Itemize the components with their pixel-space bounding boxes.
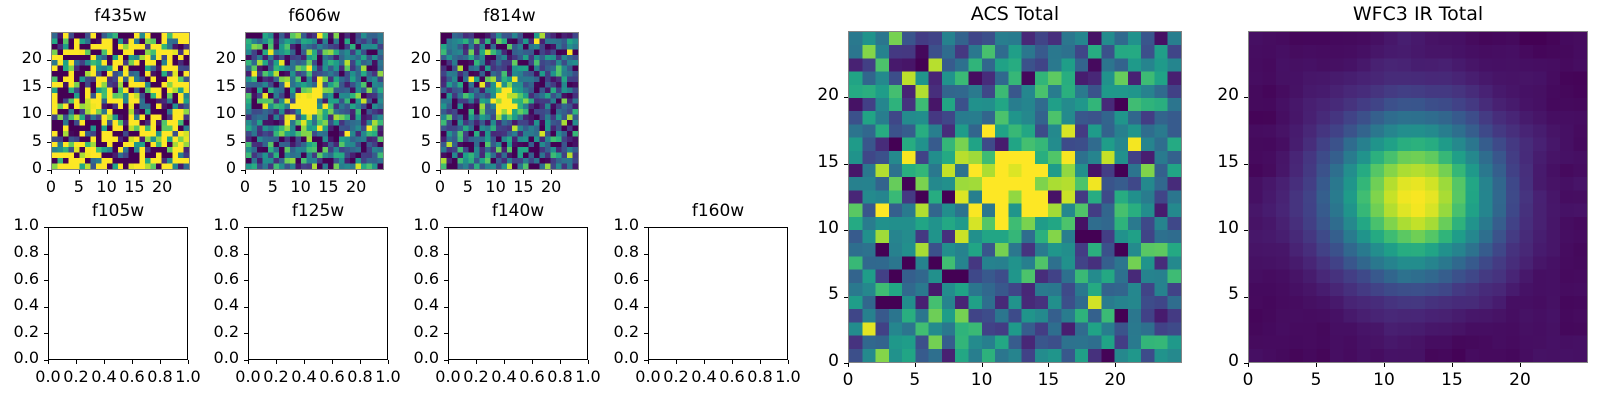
figure-canvas: f435w0510152005101520f606w05101520051015… <box>0 0 1600 400</box>
y-tick-mark <box>244 227 248 228</box>
y-tick-mark <box>436 115 440 116</box>
y-tick-mark <box>1244 97 1248 98</box>
y-tick-label: 20 <box>769 85 839 105</box>
y-tick-label: 0 <box>0 158 42 177</box>
x-tick-label: 5 <box>1286 370 1346 390</box>
plot-area-f140w <box>448 227 588 360</box>
y-tick-label: 20 <box>361 48 431 67</box>
panel-title-f125w: f125w <box>248 201 388 221</box>
x-tick-label: 10 <box>1354 370 1414 390</box>
x-tick-mark <box>448 360 449 364</box>
y-tick-label: 0.6 <box>169 269 239 288</box>
y-tick-label: 1.0 <box>369 215 439 234</box>
y-tick-label: 0.4 <box>369 295 439 314</box>
x-tick-mark <box>704 360 705 364</box>
y-tick-mark <box>644 333 648 334</box>
y-tick-mark <box>644 280 648 281</box>
x-tick-mark <box>104 360 105 364</box>
x-tick-mark <box>76 360 77 364</box>
x-tick-mark <box>648 360 649 364</box>
panel-title-acs-total: ACS Total <box>848 3 1182 25</box>
plot-area-acs-total <box>848 31 1182 363</box>
x-tick-mark <box>1248 363 1249 367</box>
y-tick-label: 0.0 <box>369 348 439 367</box>
x-tick-mark <box>1520 363 1521 367</box>
y-tick-mark <box>244 333 248 334</box>
y-tick-label: 0.6 <box>369 269 439 288</box>
y-tick-mark <box>244 254 248 255</box>
y-tick-label: 5 <box>361 131 431 150</box>
x-tick-mark <box>273 170 274 174</box>
x-tick-label: 10 <box>952 370 1012 390</box>
x-tick-mark <box>468 170 469 174</box>
x-tick-mark <box>301 170 302 174</box>
y-tick-label: 0.0 <box>0 348 39 367</box>
y-tick-label: 10 <box>769 218 839 238</box>
y-tick-label: 15 <box>0 76 42 95</box>
y-tick-mark <box>436 87 440 88</box>
y-tick-mark <box>644 227 648 228</box>
y-tick-mark <box>241 170 245 171</box>
x-tick-label: 1.0 <box>558 367 618 386</box>
y-tick-label: 0.8 <box>369 242 439 261</box>
panel-title-f140w: f140w <box>448 201 588 221</box>
y-tick-label: 0.2 <box>569 322 639 341</box>
y-tick-mark <box>1244 363 1248 364</box>
plot-area-f814w <box>440 32 579 170</box>
y-tick-mark <box>444 280 448 281</box>
y-tick-label: 20 <box>166 48 236 67</box>
x-tick-mark <box>248 360 249 364</box>
panel-title-f814w: f814w <box>440 6 579 26</box>
y-tick-label: 10 <box>166 103 236 122</box>
x-tick-mark <box>982 363 983 367</box>
y-tick-mark <box>844 97 848 98</box>
y-tick-mark <box>844 363 848 364</box>
y-tick-mark <box>436 60 440 61</box>
y-tick-mark <box>47 142 51 143</box>
panel-title-f435w: f435w <box>51 6 190 26</box>
y-tick-label: 1.0 <box>569 215 639 234</box>
x-tick-mark <box>476 360 477 364</box>
panel-title-f105w: f105w <box>48 201 188 221</box>
x-tick-label: 1.0 <box>358 367 418 386</box>
x-tick-mark <box>504 360 505 364</box>
y-tick-label: 5 <box>769 284 839 304</box>
heatmap-wfc3-ir-total <box>1249 32 1587 362</box>
x-tick-mark <box>356 170 357 174</box>
plot-area-f160w <box>648 227 788 360</box>
y-tick-label: 0.6 <box>569 269 639 288</box>
x-tick-mark <box>560 360 561 364</box>
y-tick-label: 0 <box>769 351 839 371</box>
y-tick-label: 0.0 <box>169 348 239 367</box>
x-tick-label: 15 <box>1018 370 1078 390</box>
plot-area-f105w <box>48 227 188 360</box>
panel-title-f160w: f160w <box>648 201 788 221</box>
x-tick-mark <box>328 170 329 174</box>
y-tick-label: 1.0 <box>0 215 39 234</box>
x-tick-mark <box>1384 363 1385 367</box>
y-tick-mark <box>844 230 848 231</box>
x-tick-mark <box>132 360 133 364</box>
y-tick-mark <box>444 333 448 334</box>
y-tick-label: 0 <box>166 158 236 177</box>
y-tick-label: 0.4 <box>0 295 39 314</box>
y-tick-mark <box>47 115 51 116</box>
y-tick-label: 0.2 <box>0 322 39 341</box>
x-tick-mark <box>107 170 108 174</box>
x-tick-mark <box>760 360 761 364</box>
y-tick-label: 15 <box>361 76 431 95</box>
x-tick-label: 1.0 <box>158 367 218 386</box>
y-tick-mark <box>436 142 440 143</box>
y-tick-mark <box>244 280 248 281</box>
y-tick-label: 0.4 <box>569 295 639 314</box>
y-tick-mark <box>47 87 51 88</box>
x-tick-mark <box>48 360 49 364</box>
x-tick-label: 0 <box>818 370 878 390</box>
x-tick-mark <box>551 170 552 174</box>
y-tick-label: 1.0 <box>169 215 239 234</box>
x-tick-mark <box>160 360 161 364</box>
x-tick-mark <box>1115 363 1116 367</box>
y-tick-label: 0.6 <box>0 269 39 288</box>
y-tick-mark <box>44 280 48 281</box>
x-tick-mark <box>276 360 277 364</box>
y-tick-mark <box>241 87 245 88</box>
heatmap-f814w <box>441 33 578 169</box>
y-tick-label: 10 <box>1169 218 1239 238</box>
y-tick-mark <box>644 360 648 361</box>
y-tick-mark <box>644 254 648 255</box>
y-tick-label: 0.4 <box>169 295 239 314</box>
y-tick-label: 15 <box>166 76 236 95</box>
x-tick-mark <box>523 170 524 174</box>
x-tick-mark <box>134 170 135 174</box>
plot-area-f125w <box>248 227 388 360</box>
y-tick-label: 5 <box>1169 284 1239 304</box>
y-tick-label: 0 <box>1169 351 1239 371</box>
y-tick-mark <box>44 227 48 228</box>
x-tick-mark <box>332 360 333 364</box>
y-tick-label: 15 <box>1169 152 1239 172</box>
x-tick-mark <box>51 170 52 174</box>
y-tick-label: 0.8 <box>569 242 639 261</box>
y-tick-mark <box>1244 297 1248 298</box>
x-tick-mark <box>360 360 361 364</box>
y-tick-label: 0.2 <box>169 322 239 341</box>
x-tick-mark <box>440 170 441 174</box>
x-tick-mark <box>848 363 849 367</box>
panel-title-wfc3-ir-total: WFC3 IR Total <box>1248 3 1588 25</box>
y-tick-label: 10 <box>361 103 431 122</box>
x-tick-mark <box>732 360 733 364</box>
y-tick-label: 0.8 <box>0 242 39 261</box>
y-tick-mark <box>444 254 448 255</box>
y-tick-label: 5 <box>0 131 42 150</box>
y-tick-mark <box>244 360 248 361</box>
y-tick-mark <box>241 60 245 61</box>
y-tick-mark <box>1244 164 1248 165</box>
y-tick-mark <box>241 115 245 116</box>
y-tick-mark <box>44 307 48 308</box>
y-tick-mark <box>444 227 448 228</box>
x-tick-mark <box>532 360 533 364</box>
x-tick-mark <box>496 170 497 174</box>
y-tick-mark <box>44 360 48 361</box>
y-tick-label: 0.0 <box>569 348 639 367</box>
y-tick-mark <box>444 307 448 308</box>
y-tick-label: 0.8 <box>169 242 239 261</box>
x-tick-mark <box>676 360 677 364</box>
y-tick-mark <box>844 297 848 298</box>
y-tick-label: 20 <box>0 48 42 67</box>
x-tick-mark <box>79 170 80 174</box>
x-tick-label: 5 <box>885 370 945 390</box>
y-tick-mark <box>241 142 245 143</box>
y-tick-mark <box>44 254 48 255</box>
x-tick-mark <box>1048 363 1049 367</box>
x-tick-label: 20 <box>132 177 192 196</box>
y-tick-label: 0.2 <box>369 322 439 341</box>
x-tick-label: 20 <box>1085 370 1145 390</box>
y-tick-label: 5 <box>166 131 236 150</box>
y-tick-label: 10 <box>0 103 42 122</box>
y-tick-mark <box>844 164 848 165</box>
x-tick-mark <box>162 170 163 174</box>
y-tick-mark <box>436 170 440 171</box>
y-tick-mark <box>244 307 248 308</box>
y-tick-label: 15 <box>769 152 839 172</box>
x-tick-label: 0 <box>1218 370 1278 390</box>
x-tick-label: 20 <box>326 177 386 196</box>
y-tick-mark <box>444 360 448 361</box>
x-tick-mark <box>1316 363 1317 367</box>
x-tick-mark <box>245 170 246 174</box>
x-tick-mark <box>304 360 305 364</box>
plot-area-wfc3-ir-total <box>1248 31 1588 363</box>
y-tick-mark <box>47 170 51 171</box>
x-tick-label: 20 <box>1490 370 1550 390</box>
y-tick-mark <box>1244 230 1248 231</box>
x-tick-label: 20 <box>521 177 581 196</box>
y-tick-mark <box>47 60 51 61</box>
x-tick-mark <box>915 363 916 367</box>
y-tick-mark <box>44 333 48 334</box>
x-tick-mark <box>1452 363 1453 367</box>
heatmap-acs-total <box>849 32 1181 362</box>
panel-title-f606w: f606w <box>245 6 384 26</box>
y-tick-label: 20 <box>1169 85 1239 105</box>
x-tick-label: 15 <box>1422 370 1482 390</box>
y-tick-mark <box>644 307 648 308</box>
y-tick-label: 0 <box>361 158 431 177</box>
